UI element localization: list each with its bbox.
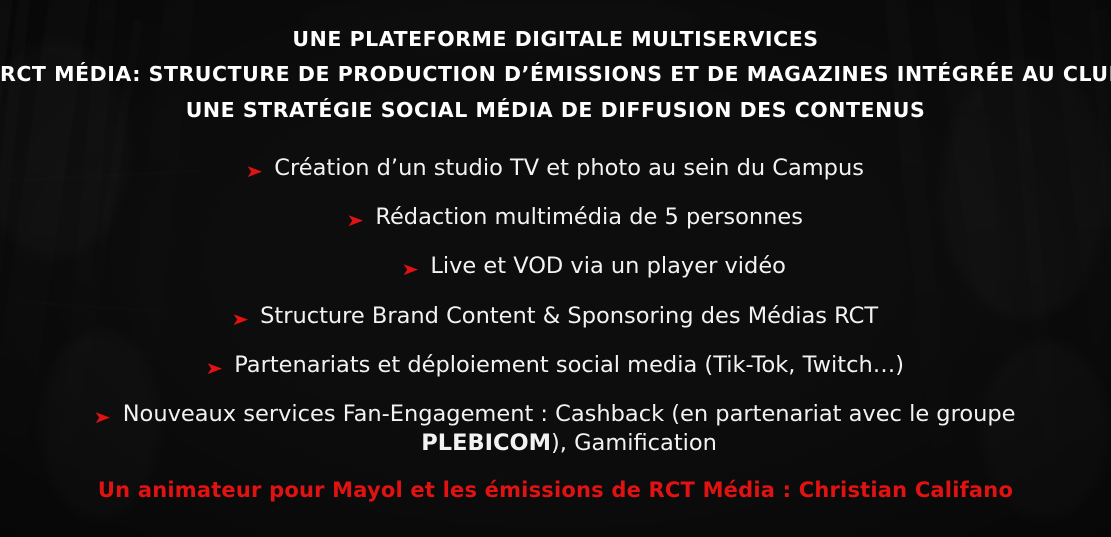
list-item-emphasis: PLEBICOM — [421, 430, 551, 456]
list-item: ➤ Partenariats et déploiement social med… — [0, 351, 1111, 379]
arrow-bullet-icon: ➤ — [231, 312, 249, 329]
list-item-label: Rédaction multimédia de 5 personnes — [375, 203, 803, 231]
list-item: ➤ Nouveaux services Fan-Engagement : Cas… — [0, 400, 1111, 457]
slide-content: UNE PLATEFORME DIGITALE MULTISERVICES RC… — [0, 0, 1111, 537]
list-item-label: Création d’un studio TV et photo au sein… — [274, 154, 864, 182]
list-item: ➤ Structure Brand Content & Sponsoring d… — [0, 302, 1111, 330]
heading-line-3: UNE STRATÉGIE SOCIAL MÉDIA DE DIFFUSION … — [0, 93, 1111, 128]
arrow-bullet-icon: ➤ — [401, 262, 419, 279]
arrow-bullet-icon: ➤ — [94, 410, 112, 427]
slide-canvas: UNE PLATEFORME DIGITALE MULTISERVICES RC… — [0, 0, 1111, 537]
list-item-label: Live et VOD via un player vidéo — [430, 252, 786, 280]
heading-line-1: UNE PLATEFORME DIGITALE MULTISERVICES — [0, 22, 1111, 57]
list-item: ➤ Création d’un studio TV et photo au se… — [0, 154, 1111, 182]
list-item: ➤ Live et VOD via un player vidéo — [0, 252, 1111, 280]
footer-highlight-text: Un animateur pour Mayol et les émissions… — [0, 478, 1111, 502]
bullet-list: ➤ Création d’un studio TV et photo au se… — [0, 154, 1111, 457]
arrow-bullet-icon: ➤ — [346, 213, 364, 230]
heading-line-2: RCT MÉDIA: STRUCTURE DE PRODUCTION D’ÉMI… — [0, 57, 1111, 92]
list-item-label: Structure Brand Content & Sponsoring des… — [260, 302, 878, 330]
arrow-bullet-icon: ➤ — [245, 164, 263, 181]
list-item-label: Nouveaux services Fan-Engagement : Cashb… — [123, 400, 1016, 457]
arrow-bullet-icon: ➤ — [205, 361, 223, 378]
headings-block: UNE PLATEFORME DIGITALE MULTISERVICES RC… — [0, 0, 1111, 128]
list-item-label: Partenariats et déploiement social media… — [234, 351, 904, 379]
list-item-text-part-2: ), Gamification — [551, 430, 717, 456]
list-item-text-part-1: Nouveaux services Fan-Engagement : Cashb… — [123, 401, 1016, 427]
list-item: ➤ Rédaction multimédia de 5 personnes — [0, 203, 1111, 231]
